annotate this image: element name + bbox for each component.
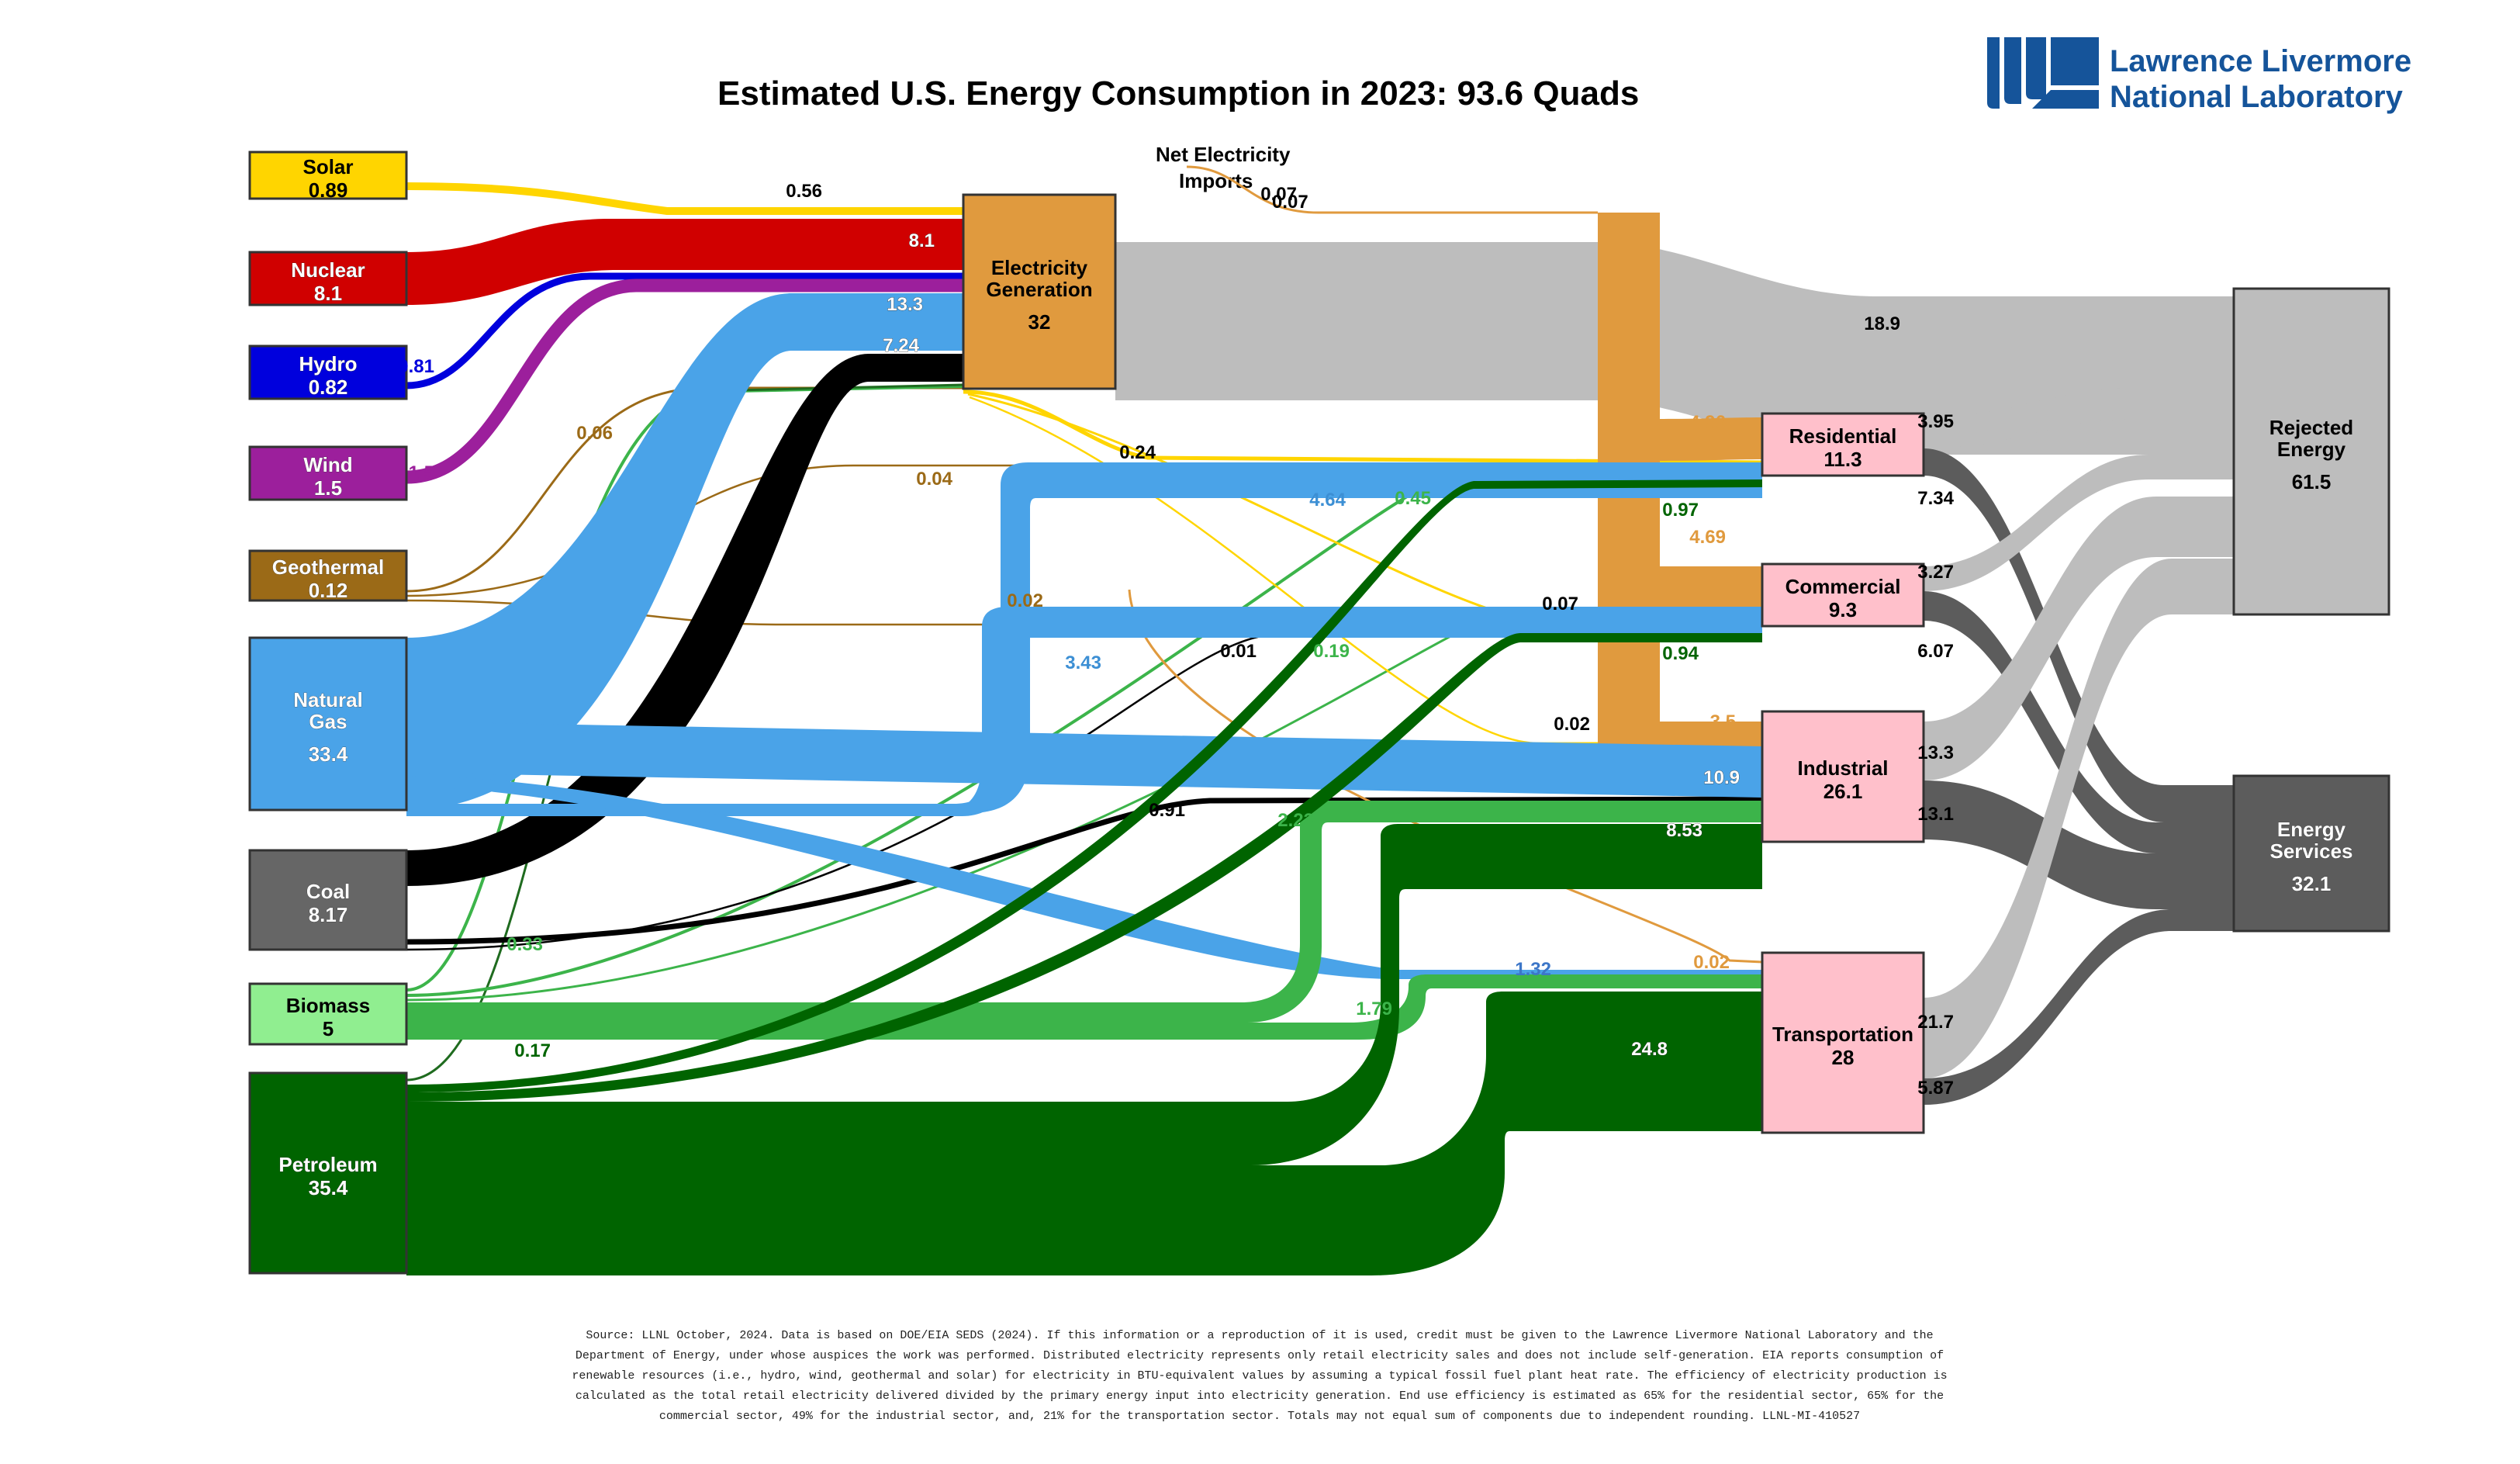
node-value-geothermal: 0.12 <box>309 579 348 602</box>
node-value-petroleum: 35.4 <box>309 1176 348 1199</box>
flow-label-biomass-indus: 2.23 <box>1277 810 1314 831</box>
node-wind[interactable]: Wind1.5 <box>250 447 406 500</box>
flow-label-trans-rejected: 21.7 <box>1917 1012 1954 1033</box>
node-label-nuclear: Nuclear <box>291 258 365 282</box>
flow-label-resid-rejected: 3.95 <box>1917 411 1954 432</box>
flow-label-solar-comm: 0.07 <box>1542 594 1578 614</box>
node-label-geothermal: Geothermal <box>272 555 385 579</box>
node-coal[interactable]: Coal8.17 <box>250 850 406 950</box>
node-biomass[interactable]: Biomass5 <box>250 984 406 1044</box>
flow-label-elecgen-resid: 4.96 <box>1689 412 1726 433</box>
flow-label-biomass-comm: 0.19 <box>1313 641 1350 662</box>
llnl-logo-line2: National Laboratory <box>2110 80 2404 114</box>
flow-elecgen-commercial <box>1660 566 1762 607</box>
footnote-line-1: Source: LLNL October, 2024. Data is base… <box>586 1329 1933 1342</box>
flow-label-petroleum-resid: 0.97 <box>1662 500 1699 521</box>
node-value-wind: 1.5 <box>314 476 342 500</box>
node-value-biomass: 5 <box>323 1017 334 1040</box>
node-rejected[interactable]: RejectedEnergy61.5 <box>2234 289 2389 614</box>
flow-label-comm-services: 6.07 <box>1917 641 1954 662</box>
net-imports-line1: Net Electricity <box>1156 143 1291 166</box>
llnl-logo-line1: Lawrence Livermore <box>2110 44 2411 78</box>
node-label-trans: Transportation <box>1772 1023 1913 1046</box>
flow-label-natgas-resid: 4.64 <box>1309 490 1346 510</box>
llnl-logo: Lawrence Livermore National Laboratory <box>1987 37 2411 114</box>
flow-label-natgas-elecgen: 13.3 <box>887 294 923 315</box>
node-nuclear[interactable]: Nuclear8.1 <box>250 252 406 305</box>
node-label-l1-rejected: Rejected <box>2269 416 2353 439</box>
flow-label-geothermal-resid: 0.04 <box>916 469 952 490</box>
flow-label-comm-rejected: 3.27 <box>1917 562 1954 583</box>
flow-label-indus-services: 13.1 <box>1917 804 1954 825</box>
node-value-elecgen: 32 <box>1028 310 1051 334</box>
flow-label-solar-elecgen: 0.56 <box>786 181 822 202</box>
flow-label-coal-elecgen: 7.24 <box>883 335 919 356</box>
flow-label-biomass-resid: 0.45 <box>1395 488 1431 509</box>
flow-label-natgas-comm: 3.43 <box>1065 652 1101 673</box>
flow-label-resid-services: 7.34 <box>1917 488 1954 509</box>
node-label-l2-natgas: Gas <box>309 710 347 733</box>
flow-label-petroleum-elecgen: 0.17 <box>514 1040 551 1061</box>
flow-label-petroleum-comm: 0.94 <box>1662 643 1699 664</box>
node-geothermal[interactable]: Geothermal0.12 <box>250 551 406 602</box>
node-natgas[interactable]: NaturalGas33.4 <box>250 638 406 810</box>
footnote-line-2: Department of Energy, under whose auspic… <box>576 1349 1944 1362</box>
flow-label-elecgen-indus: 3.5 <box>1710 711 1736 732</box>
node-elecgen[interactable]: ElectricityGeneration32 <box>963 195 1115 389</box>
flow-label-geothermal-elecgen: 0.06 <box>576 423 613 444</box>
flow-label-wind-elecgen: 1.5 <box>409 462 434 483</box>
node-label-coal: Coal <box>306 880 350 903</box>
node-value-rejected: 61.5 <box>2292 470 2332 493</box>
node-value-indus: 26.1 <box>1823 780 1863 803</box>
node-label-comm: Commercial <box>1785 575 1901 598</box>
node-label-wind: Wind <box>303 453 352 476</box>
node-value-natgas: 33.4 <box>309 742 348 766</box>
node-value-services: 32.1 <box>2292 872 2332 895</box>
node-label-biomass: Biomass <box>286 994 370 1017</box>
node-solar[interactable]: Solar0.89 <box>250 152 406 202</box>
flow-label-solar-resid: 0.24 <box>1119 442 1156 463</box>
flow-label-hydro-elecgen: 0.81 <box>398 356 434 377</box>
flow-label-elecgen-rejected: 18.9 <box>1864 313 1900 334</box>
flow-label-biomass-elecgen: 0.33 <box>506 934 543 955</box>
node-comm[interactable]: Commercial9.3 <box>1762 564 1924 626</box>
node-label-l1-elecgen: Electricity <box>991 256 1088 279</box>
flow-label-elecgen-trans: 0.02 <box>1693 952 1730 973</box>
node-value-coal: 8.17 <box>309 903 348 926</box>
flow-label-coal-indus: 0.91 <box>1149 800 1185 821</box>
page-title: Estimated U.S. Energy Consumption in 202… <box>717 74 1639 112</box>
node-label-indus: Industrial <box>1797 756 1888 780</box>
flow-label-coal-comm: 0.01 <box>1220 641 1257 662</box>
node-label-l2-services: Services <box>2270 839 2353 863</box>
flow-label-petroleum-indus: 8.53 <box>1666 820 1702 841</box>
net-imports-value-label: 0.07 <box>1272 192 1308 213</box>
node-label-petroleum: Petroleum <box>278 1153 377 1176</box>
node-label-l1-natgas: Natural <box>293 688 363 711</box>
node-indus[interactable]: Industrial26.1 <box>1762 711 1924 842</box>
node-label-l2-elecgen: Generation <box>986 278 1092 301</box>
flow-label-petroleum-trans: 24.8 <box>1631 1039 1668 1060</box>
node-value-comm: 9.3 <box>1829 598 1857 621</box>
sankey-canvas: Estimated U.S. Energy Consumption in 202… <box>0 0 2520 1464</box>
footnote-line-4: calculated as the total retail electrici… <box>576 1390 1944 1403</box>
flow-label-trans-services: 5.87 <box>1917 1078 1954 1099</box>
flow-label-natgas-indus: 10.9 <box>1703 767 1740 788</box>
node-label-resid: Residential <box>1789 424 1897 448</box>
flow-label-biomass-trans: 1.79 <box>1356 998 1392 1019</box>
node-value-solar: 0.89 <box>309 178 348 202</box>
node-resid[interactable]: Residential11.3 <box>1762 414 1924 476</box>
flow-label-geothermal-comm: 0.02 <box>1007 590 1043 611</box>
flow-label-solar-indus: 0.02 <box>1554 714 1590 735</box>
sankey-diagram-page: Estimated U.S. Energy Consumption in 202… <box>0 0 2520 1464</box>
flow-label-elecgen-comm: 4.69 <box>1689 527 1726 548</box>
node-label-hydro: Hydro <box>299 352 357 376</box>
node-services[interactable]: EnergyServices32.1 <box>2234 776 2389 931</box>
node-value-hydro: 0.82 <box>309 376 348 399</box>
node-petroleum[interactable]: Petroleum35.4 <box>250 1073 406 1273</box>
flow-label-indus-rejected: 13.3 <box>1917 742 1954 763</box>
node-value-trans: 28 <box>1832 1046 1855 1069</box>
flow-label-nuclear-elecgen: 8.1 <box>909 230 935 251</box>
node-value-resid: 11.3 <box>1823 448 1861 471</box>
node-value-nuclear: 8.1 <box>314 282 342 305</box>
node-hydro[interactable]: Hydro0.82 <box>250 346 406 399</box>
footnote-line-5: commercial sector, 49% for the industria… <box>659 1410 1860 1423</box>
flow-label-natgas-trans: 1.32 <box>1515 959 1551 980</box>
node-trans[interactable]: Transportation28 <box>1762 953 1924 1133</box>
node-label-l2-rejected: Energy <box>2277 438 2346 461</box>
node-label-solar: Solar <box>302 155 353 178</box>
footnote-line-3: renewable resources (i.e., hydro, wind, … <box>572 1369 1947 1383</box>
node-label-l1-services: Energy <box>2277 818 2346 841</box>
